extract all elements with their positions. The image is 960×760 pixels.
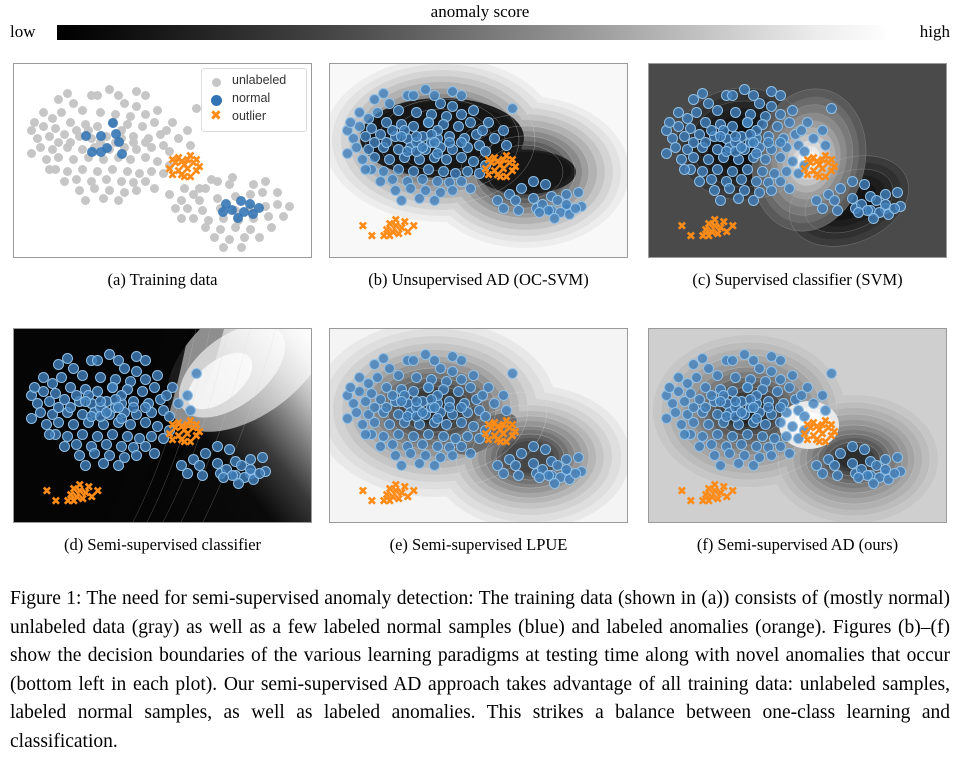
panel-d-surface bbox=[14, 329, 311, 522]
colorbar-low-label: low bbox=[10, 22, 36, 42]
panel-a-plot: ✖✖✖✖✖✖✖✖✖✖✖✖✖✖✖✖✖✖ unlabeled normal ✖ ou… bbox=[14, 64, 311, 257]
panel-e-plot: ✖✖✖✖✖✖✖✖✖✖✖✖✖✖✖✖✖✖✖✖✖✖✖✖✖✖✖✖✖✖✖✖ bbox=[330, 329, 627, 522]
legend-outlier-icon: ✖ bbox=[210, 109, 222, 123]
panel-c: ✖✖✖✖✖✖✖✖✖✖✖✖✖✖✖✖✖✖✖✖✖✖✖✖✖✖✖✖✖✖✖✖ bbox=[648, 63, 947, 258]
panel-b-plot: ✖✖✖✖✖✖✖✖✖✖✖✖✖✖✖✖✖✖✖✖✖✖✖✖✖✖✖✖✖✖✖✖ bbox=[330, 64, 627, 257]
panel-e: ✖✖✖✖✖✖✖✖✖✖✖✖✖✖✖✖✖✖✖✖✖✖✖✖✖✖✖✖✖✖✖✖ bbox=[329, 328, 628, 523]
legend-normal-icon bbox=[211, 95, 222, 106]
legend-label-outlier: outlier bbox=[232, 109, 266, 123]
colorbar-title: anomaly score bbox=[0, 2, 960, 22]
panel-f-surface bbox=[649, 329, 946, 522]
colorbar-high-label: high bbox=[920, 22, 950, 42]
panel-c-caption: (c) Supervised classifier (SVM) bbox=[648, 270, 947, 290]
colorbar-gradient bbox=[57, 25, 885, 40]
legend-unlabeled-icon bbox=[212, 78, 221, 87]
legend-label-normal: normal bbox=[232, 91, 270, 105]
panel-b: ✖✖✖✖✖✖✖✖✖✖✖✖✖✖✖✖✖✖✖✖✖✖✖✖✖✖✖✖✖✖✖✖ bbox=[329, 63, 628, 258]
panel-a: ✖✖✖✖✖✖✖✖✖✖✖✖✖✖✖✖✖✖ unlabeled normal ✖ ou… bbox=[13, 63, 312, 258]
legend: unlabeled normal ✖ outlier bbox=[201, 68, 307, 132]
panel-c-plot: ✖✖✖✖✖✖✖✖✖✖✖✖✖✖✖✖✖✖✖✖✖✖✖✖✖✖✖✖✖✖✖✖ bbox=[649, 64, 946, 257]
panel-d-caption: (d) Semi-supervised classifier bbox=[13, 535, 312, 555]
panel-a-caption: (a) Training data bbox=[13, 270, 312, 290]
panel-f-plot: ✖✖✖✖✖✖✖✖✖✖✖✖✖✖✖✖✖✖✖✖✖✖✖✖✖✖✖✖✖✖✖✖ bbox=[649, 329, 946, 522]
panel-e-surface bbox=[330, 329, 627, 522]
panel-f-caption: (f) Semi-supervised AD (ours) bbox=[648, 535, 947, 555]
panel-c-surface bbox=[649, 64, 946, 257]
figure-root: anomaly score low high ✖✖✖✖✖✖✖✖✖✖✖✖✖✖✖✖✖… bbox=[0, 0, 960, 760]
panel-d: ✖✖✖✖✖✖✖✖✖✖✖✖✖✖✖✖✖✖✖✖✖✖✖✖✖✖✖✖✖✖✖✖ bbox=[13, 328, 312, 523]
panel-e-caption: (e) Semi-supervised LPUE bbox=[329, 535, 628, 555]
panel-b-caption: (b) Unsupervised AD (OC-SVM) bbox=[329, 270, 628, 290]
legend-label-unlabeled: unlabeled bbox=[232, 73, 286, 87]
panel-f: ✖✖✖✖✖✖✖✖✖✖✖✖✖✖✖✖✖✖✖✖✖✖✖✖✖✖✖✖✖✖✖✖ bbox=[648, 328, 947, 523]
anomaly-score-colorbar: anomaly score low high bbox=[0, 0, 960, 48]
panel-d-plot: ✖✖✖✖✖✖✖✖✖✖✖✖✖✖✖✖✖✖✖✖✖✖✖✖✖✖✖✖✖✖✖✖ bbox=[14, 329, 311, 522]
figure-caption: Figure 1: The need for semi-supervised a… bbox=[10, 585, 950, 756]
panel-b-surface bbox=[330, 64, 627, 257]
